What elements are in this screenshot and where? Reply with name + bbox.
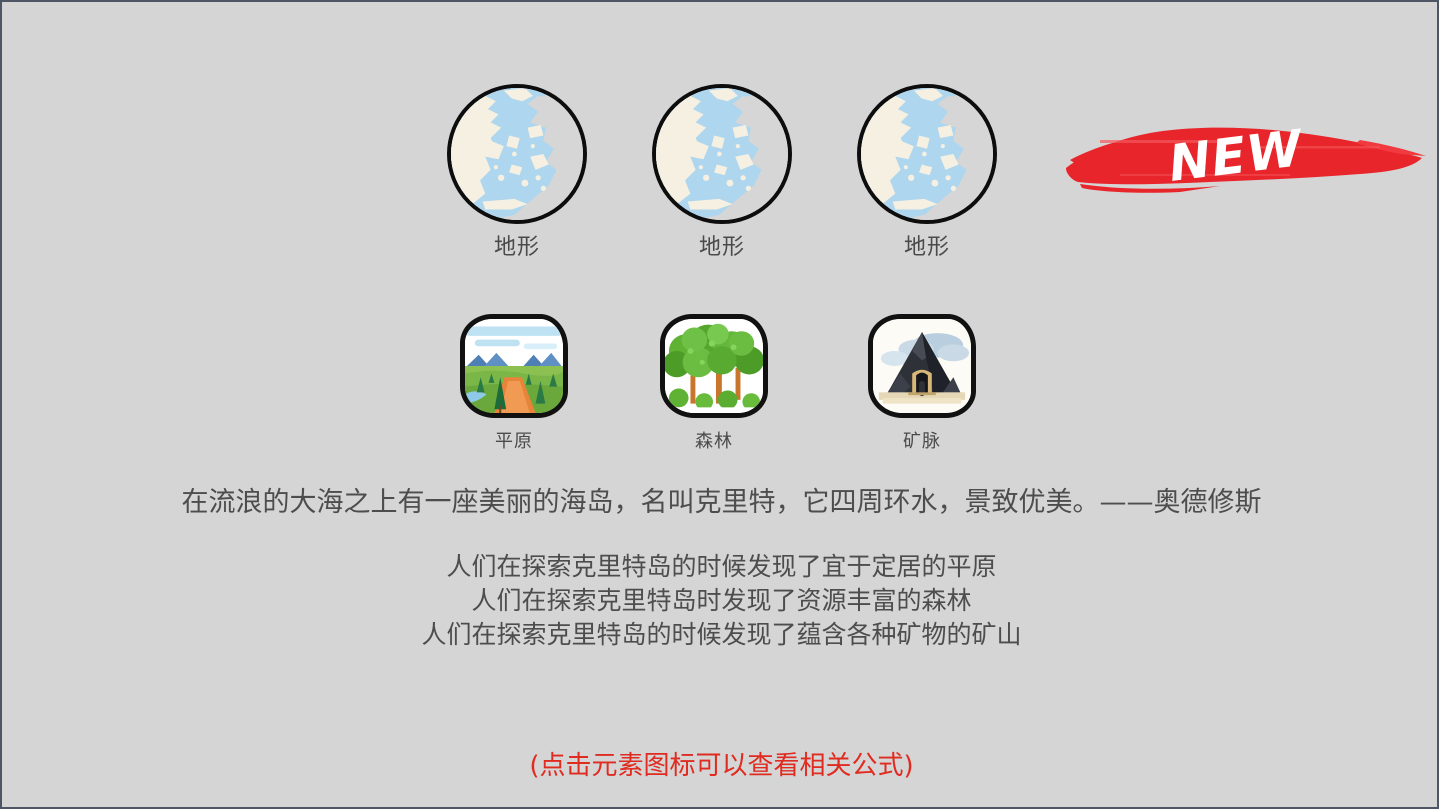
aegean-map-icon[interactable]	[447, 84, 587, 224]
hint-text: (点击元素图标可以查看相关公式)	[2, 745, 1439, 782]
game-screen: 地形	[0, 0, 1439, 809]
terrain-item-label: 地形	[442, 236, 592, 260]
plains-icon[interactable]	[460, 314, 568, 418]
resource-item-label: 矿脉	[852, 427, 992, 453]
new-badge: NEW	[1060, 110, 1428, 206]
aegean-map-icon[interactable]	[652, 84, 792, 224]
terrain-item-label: 地形	[647, 236, 797, 260]
terrain-item-label: 地形	[852, 236, 1002, 260]
terrain-item-1[interactable]: 地形	[442, 84, 592, 260]
resource-item-label: 平原	[444, 427, 584, 453]
discovery-log: 人们在探索克里特岛的时候发现了宜于定居的平原 人们在探索克里特岛时发现了资源丰富…	[2, 550, 1439, 652]
resource-item-label: 森林	[644, 427, 784, 453]
terrain-item-3[interactable]: 地形	[852, 84, 1002, 260]
resource-icon-row: 平原	[432, 314, 1032, 479]
discovery-line: 人们在探索克里特岛时发现了资源丰富的森林	[2, 584, 1439, 618]
aegean-map-icon[interactable]	[857, 84, 997, 224]
mine-icon[interactable]	[868, 314, 976, 418]
terrain-item-2[interactable]: 地形	[647, 84, 797, 260]
quote-text: 在流浪的大海之上有一座美丽的海岛，名叫克里特，它四周环水，景致优美。——奥德修斯	[2, 480, 1439, 519]
resource-item-forest[interactable]: 森林	[644, 314, 784, 453]
discovery-line: 人们在探索克里特岛的时候发现了蕴含各种矿物的矿山	[2, 618, 1439, 652]
terrain-icon-row: 地形	[432, 84, 1032, 284]
resource-item-plains[interactable]: 平原	[444, 314, 584, 453]
discovery-line: 人们在探索克里特岛的时候发现了宜于定居的平原	[2, 550, 1439, 584]
forest-icon[interactable]	[660, 314, 768, 418]
resource-item-mine[interactable]: 矿脉	[852, 314, 992, 453]
